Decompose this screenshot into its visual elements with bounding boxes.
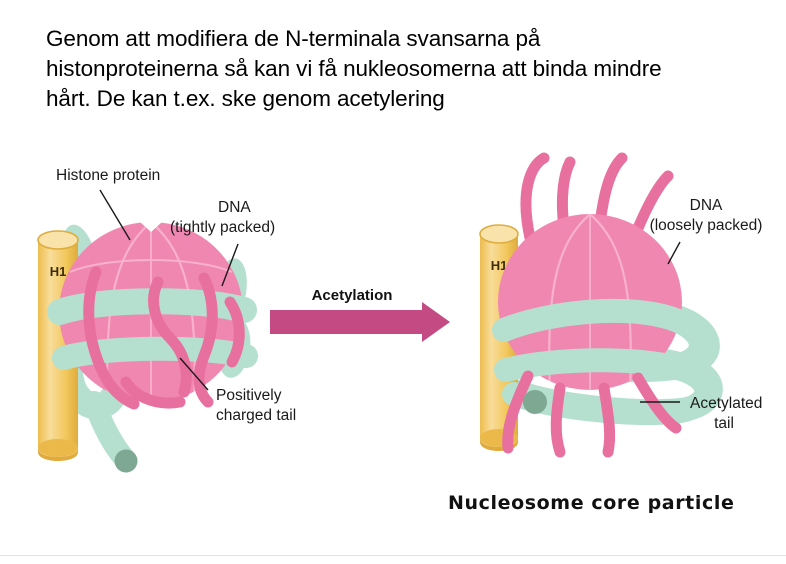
histone-protein-label: Histone protein — [56, 167, 160, 184]
nucleosome-diagram-svg: H1 — [8, 152, 778, 542]
slide-title: Genom att modifiera de N-terminala svans… — [46, 24, 758, 114]
right-dna-label-line2: (loosely packed) — [650, 217, 763, 234]
right-dna-label-line1: DNA — [690, 197, 723, 214]
positively-charged-tail-line2: charged tail — [216, 407, 296, 424]
acetylation-label: Acetylation — [312, 287, 393, 304]
acetylated-tail-line2: tail — [714, 415, 734, 432]
positively-charged-tail-line1: Positively — [216, 387, 282, 404]
bottom-divider — [0, 555, 786, 556]
nucleosome-figure: H1 — [8, 152, 778, 542]
left-dna-label-line2: (tightly packed) — [170, 219, 275, 236]
title-line-2: histonproteinerna så kan vi få nukleosom… — [46, 54, 758, 84]
right-tail-tip-dot — [523, 390, 547, 414]
acetylated-tail-line1: Acetylated — [690, 395, 762, 412]
slide-canvas: Genom att modifiera de N-terminala svans… — [0, 0, 786, 564]
title-line-1: Genom att modifiera de N-terminala svans… — [46, 24, 758, 54]
left-dna-label-line1: DNA — [218, 199, 251, 216]
h1-label-left: H1 — [50, 264, 67, 279]
figure-caption: Nucleosome core particle — [448, 492, 734, 514]
title-line-3: hårt. De kan t.ex. ske genom acetylering — [46, 84, 758, 114]
